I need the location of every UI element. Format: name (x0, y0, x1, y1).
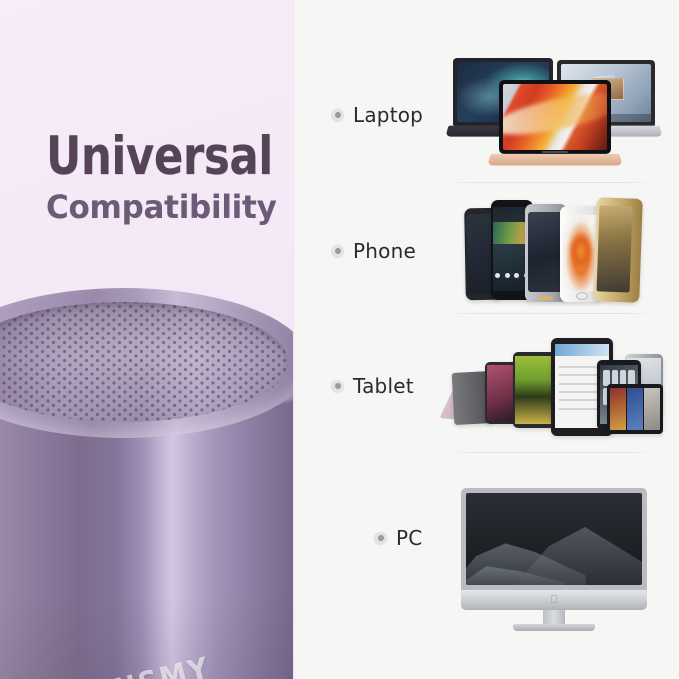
tablet-screen (515, 356, 553, 424)
product-infographic: Universal Compatibility ANSMY (0, 0, 679, 679)
silver-imac-desktop (461, 488, 647, 590)
left-hero-panel: Universal Compatibility ANSMY (0, 0, 293, 679)
list-item-tablet: Tablet (331, 374, 414, 398)
radio-bullet-icon (374, 532, 387, 545)
gold-huawei-phone (593, 197, 643, 303)
radio-bullet-inner (335, 383, 341, 389)
radio-bullet-icon (331, 380, 344, 393)
radio-bullet-icon (331, 109, 344, 122)
dock-app-icon (505, 273, 510, 278)
feather-wallpaper (569, 232, 592, 272)
radio-bullet-inner (335, 248, 341, 254)
phone-screen (528, 212, 564, 292)
product-image-speaker: ANSMY (0, 288, 293, 679)
list-item-label: PC (396, 526, 422, 550)
content-thumbnail (627, 388, 643, 430)
rose-gold-macbook (499, 80, 611, 154)
android-dock (495, 269, 528, 282)
list-item-label: Laptop (353, 103, 423, 127)
list-item-phone: Phone (331, 239, 416, 263)
list-item-pc: PC (374, 526, 422, 550)
row-divider (452, 182, 648, 183)
radio-bullet-icon (331, 245, 344, 258)
page-title: Universal (46, 131, 243, 183)
phone-screen (597, 205, 633, 292)
galaxy-tab (513, 352, 555, 428)
home-button (539, 296, 552, 300)
device-art-laptops (447, 46, 662, 174)
row-divider (452, 313, 648, 314)
radio-bullet-inner (335, 112, 341, 118)
list-item-label: Tablet (353, 374, 414, 398)
list-item-laptop: Laptop (331, 103, 423, 127)
apple-logo-icon:  (550, 595, 558, 606)
home-button (576, 292, 588, 300)
row-divider (452, 452, 648, 453)
content-thumbnail (644, 388, 660, 430)
list-item-label: Phone (353, 239, 416, 263)
webpage-header (555, 344, 609, 356)
device-art-tablets (447, 330, 662, 446)
radio-bullet-inner (378, 535, 384, 541)
device-art-pc:  (447, 480, 662, 598)
page-subtitle: Compatibility (46, 187, 279, 227)
content-thumbnail (610, 388, 626, 430)
dock-app-icon (495, 273, 500, 278)
speaker-top-rim (0, 288, 293, 438)
device-art-phones (447, 192, 662, 304)
speaker-grille (0, 302, 288, 422)
tablet-screen (610, 388, 660, 430)
kindle-fire (607, 384, 663, 434)
headline-block: Universal Compatibility (46, 131, 286, 227)
imac-display (466, 493, 642, 585)
macbook-bezel-label (542, 151, 569, 153)
bigsur-wallpaper-swirl (503, 85, 607, 143)
imac-stand-foot (513, 624, 595, 631)
dock-app-icon (514, 273, 519, 278)
imac-chin:  (461, 590, 647, 610)
macbook-base (487, 154, 623, 166)
compatibility-list-panel: Laptop (295, 0, 679, 679)
macbook-screen (503, 84, 607, 150)
